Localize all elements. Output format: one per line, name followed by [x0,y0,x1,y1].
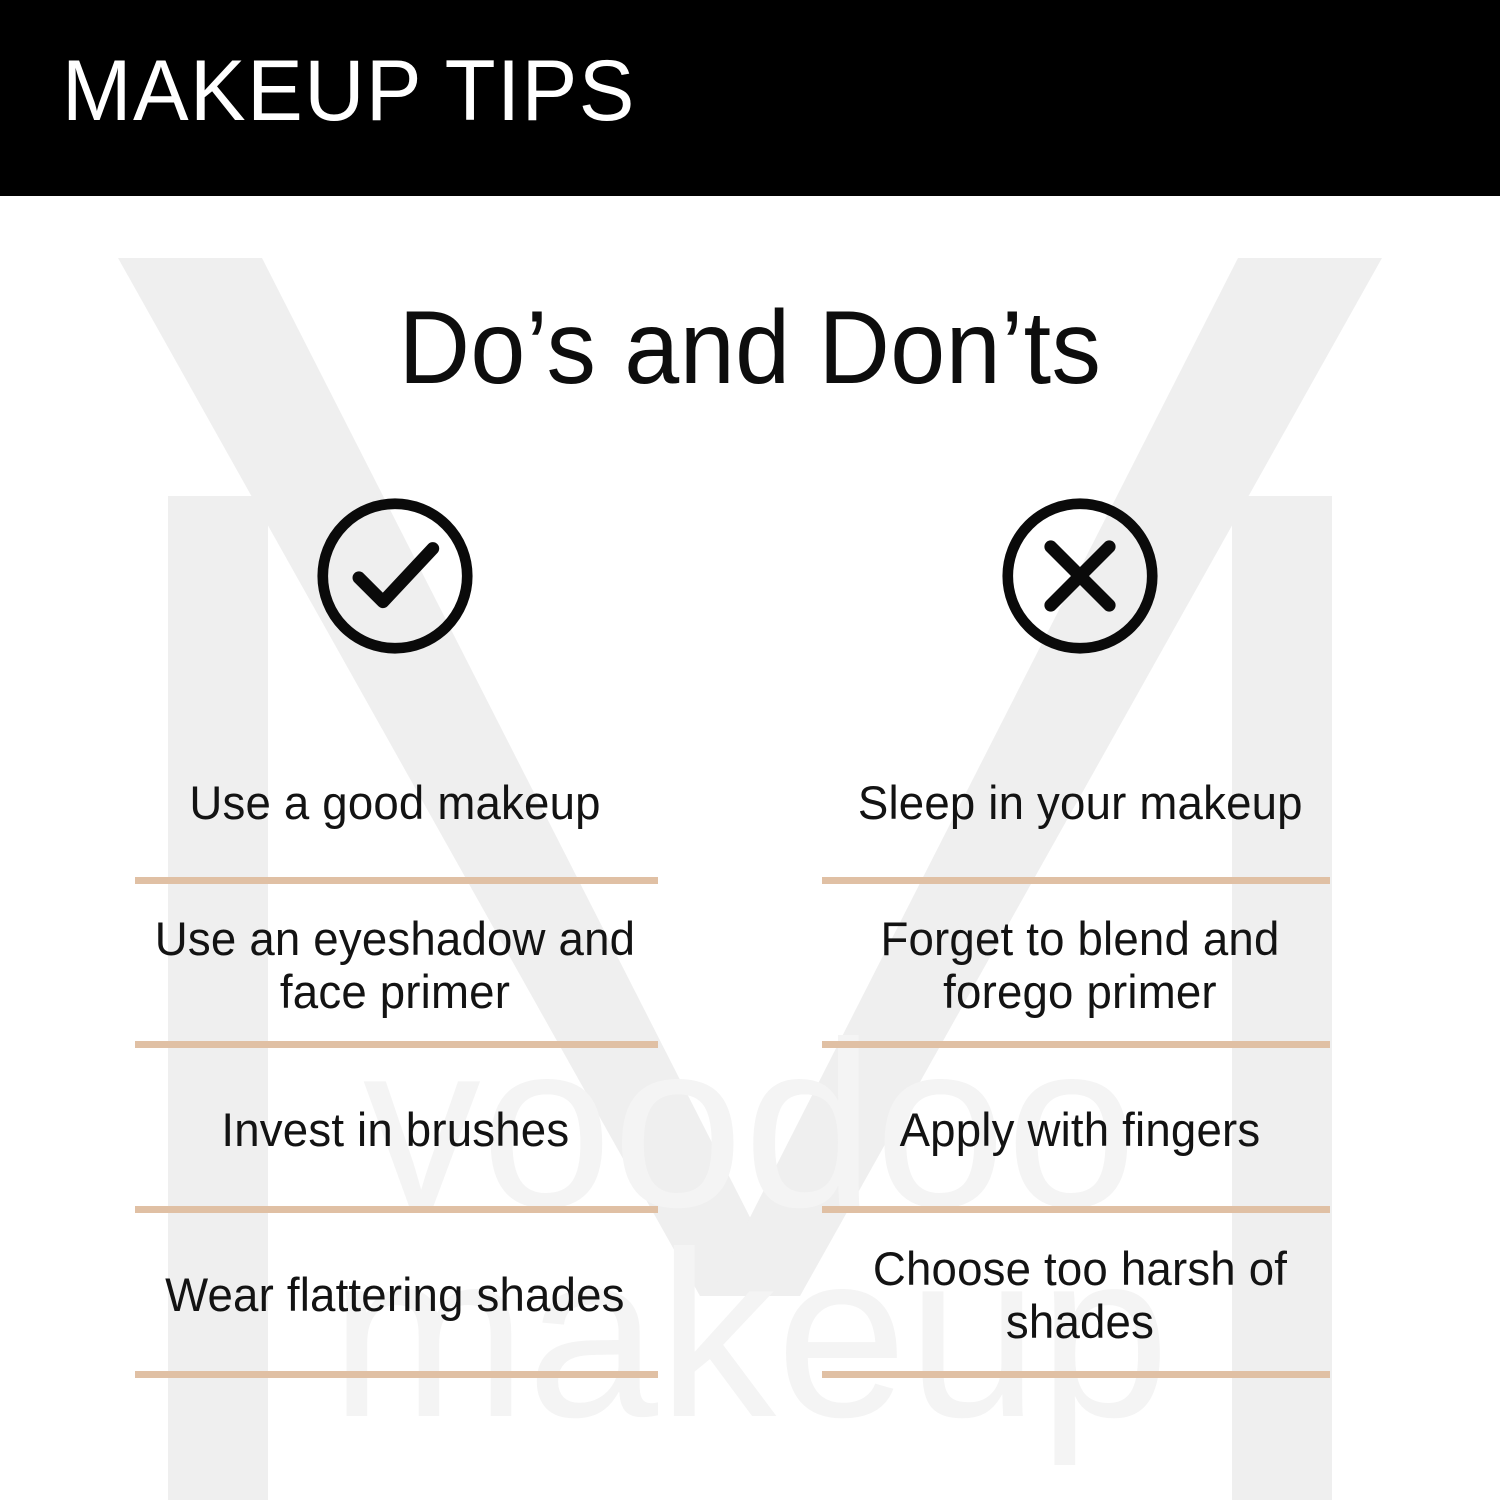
donts-list: Sleep in your makeup Forget to blend and… [800,722,1360,1378]
page-title: Do’s and Don’ts [38,296,1463,400]
list-item: Use a good makeup [115,722,675,884]
list-item-label: Sleep in your makeup [852,777,1308,830]
list-item: Choose too harsh of shades [800,1213,1360,1378]
row-divider [135,1206,658,1213]
list-item-label: Forget to blend and forego primer [808,913,1351,1018]
row-divider [822,1371,1330,1378]
list-item: Wear flattering shades [115,1213,675,1378]
check-circle-icon [309,490,481,662]
list-item: Use an eyeshadow and face primer [115,884,675,1048]
row-divider [135,1041,658,1048]
list-item: Invest in brushes [115,1048,675,1213]
dos-list: Use a good makeup Use an eyeshadow and f… [115,722,675,1378]
list-item-label: Invest in brushes [215,1104,575,1157]
list-item: Sleep in your makeup [800,722,1360,884]
row-divider [135,877,658,884]
column-donts: Sleep in your makeup Forget to blend and… [800,486,1360,1378]
list-item-label: Wear flattering shades [159,1269,630,1322]
header-bar: MAKEUP TIPS [0,0,1500,196]
row-divider [135,1371,658,1378]
row-divider [822,877,1330,884]
row-divider [822,1206,1330,1213]
list-item-label: Use a good makeup [184,777,607,830]
infographic-canvas: voodoo makeup MAKEUP TIPS Do’s and Don’t… [0,0,1500,1500]
check-circle-icon-wrap [115,486,675,666]
list-item-label: Choose too harsh of shades [808,1243,1351,1348]
row-divider [822,1041,1330,1048]
x-circle-icon [994,490,1166,662]
list-item: Forget to blend and forego primer [800,884,1360,1048]
x-circle-icon-wrap [800,486,1360,666]
header-title: MAKEUP TIPS [62,48,636,134]
list-item: Apply with fingers [800,1048,1360,1213]
list-item-label: Apply with fingers [894,1104,1266,1157]
list-item-label: Use an eyeshadow and face primer [123,913,666,1018]
main-content: Do’s and Don’ts Use a good makeup Use an… [0,196,1500,1500]
column-dos: Use a good makeup Use an eyeshadow and f… [115,486,675,1378]
